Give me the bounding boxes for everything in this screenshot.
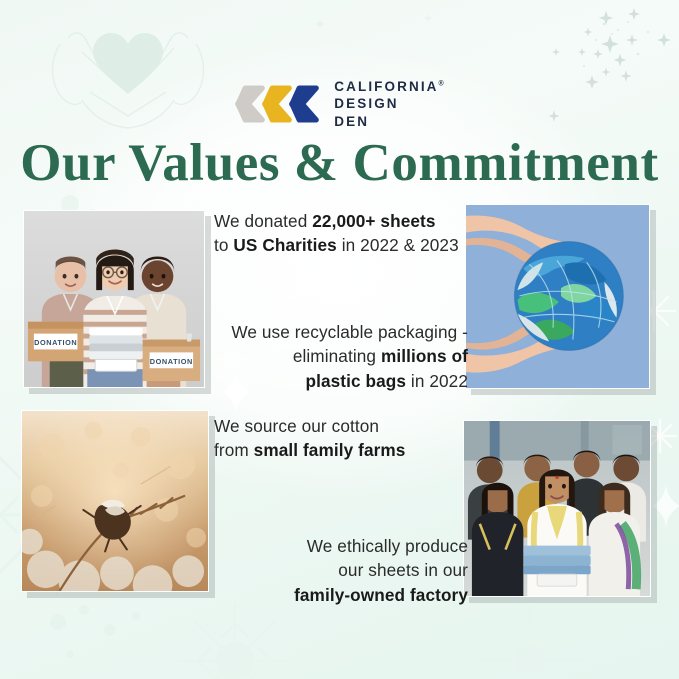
statement-text: We donated [214,211,312,231]
svg-text:DONATION: DONATION [34,338,77,347]
statement-text: in 2022 [406,371,468,391]
statement-emphasis: 22,000+ sheets [312,211,435,231]
statement-text: We use recyclable packaging - [231,322,468,342]
chevron-navy-icon [289,82,319,126]
sparkle-watermark [40,596,160,679]
logo-wordmark: CALIFORNIA® DESIGN DEN [328,78,443,130]
statement-emphasis: plastic bags [305,371,406,391]
logo-line-design: DESIGN [334,95,443,112]
sparkle-watermark [300,4,450,64]
statement-emphasis: millions of [381,346,468,366]
statement-line: our sheets in our [206,558,468,582]
registered-trademark-icon: ® [439,81,444,88]
statement-line: eliminating millions of [206,344,468,368]
chevron-gold-icon [262,82,292,126]
statement-emphasis: small family farms [254,440,406,460]
statement-text: to [214,235,233,255]
values-commitment-poster: CALIFORNIA® DESIGN DEN Our Values & Comm… [0,0,679,679]
statement-factory: We ethically produceour sheets in ourfam… [206,534,468,607]
statement-text: We source our cotton [214,416,379,436]
statement-cotton: We source our cottonfrom small family fa… [214,414,466,463]
statement-line: We use recyclable packaging - [206,320,468,344]
photo-factory-workers [463,420,651,597]
page-title: Our Values & Commitment [0,133,679,193]
logo-line-den: DEN [334,113,443,130]
statement-text: from [214,440,254,460]
brand-logo: CALIFORNIA® DESIGN DEN [0,78,679,130]
statement-line: plastic bags in 2022 [206,369,468,393]
statement-text: We ethically produce [307,536,468,556]
statement-line: from small family farms [214,438,466,462]
statement-line: We ethically produce [206,534,468,558]
statement-line: We donated 22,000+ sheets [214,209,470,233]
svg-text:DONATION: DONATION [150,357,193,366]
statement-emphasis: US Charities [233,235,336,255]
snowflake-watermark [170,596,300,679]
photo-donation-volunteers: DONATION DONATION [23,210,205,388]
logo-chevrons [235,82,316,126]
statement-text: eliminating [293,346,381,366]
photo-plastic-globe-hands [465,204,650,389]
photo-cotton-field [21,410,209,592]
statement-packaging: We use recyclable packaging -eliminating… [206,320,468,393]
statement-line: to US Charities in 2022 & 2023 [214,233,470,257]
statement-line: We source our cotton [214,414,466,438]
statement-text: our sheets in our [338,560,468,580]
statement-donations: We donated 22,000+ sheetsto US Charities… [214,209,470,258]
chevron-grey-icon [235,82,265,126]
logo-line-california: CALIFORNIA [334,79,438,94]
statement-emphasis: family-owned factory [294,585,468,605]
statement-line: family-owned factory [206,583,468,607]
statement-text: in 2022 & 2023 [337,235,459,255]
snowflake-watermark [470,600,590,679]
